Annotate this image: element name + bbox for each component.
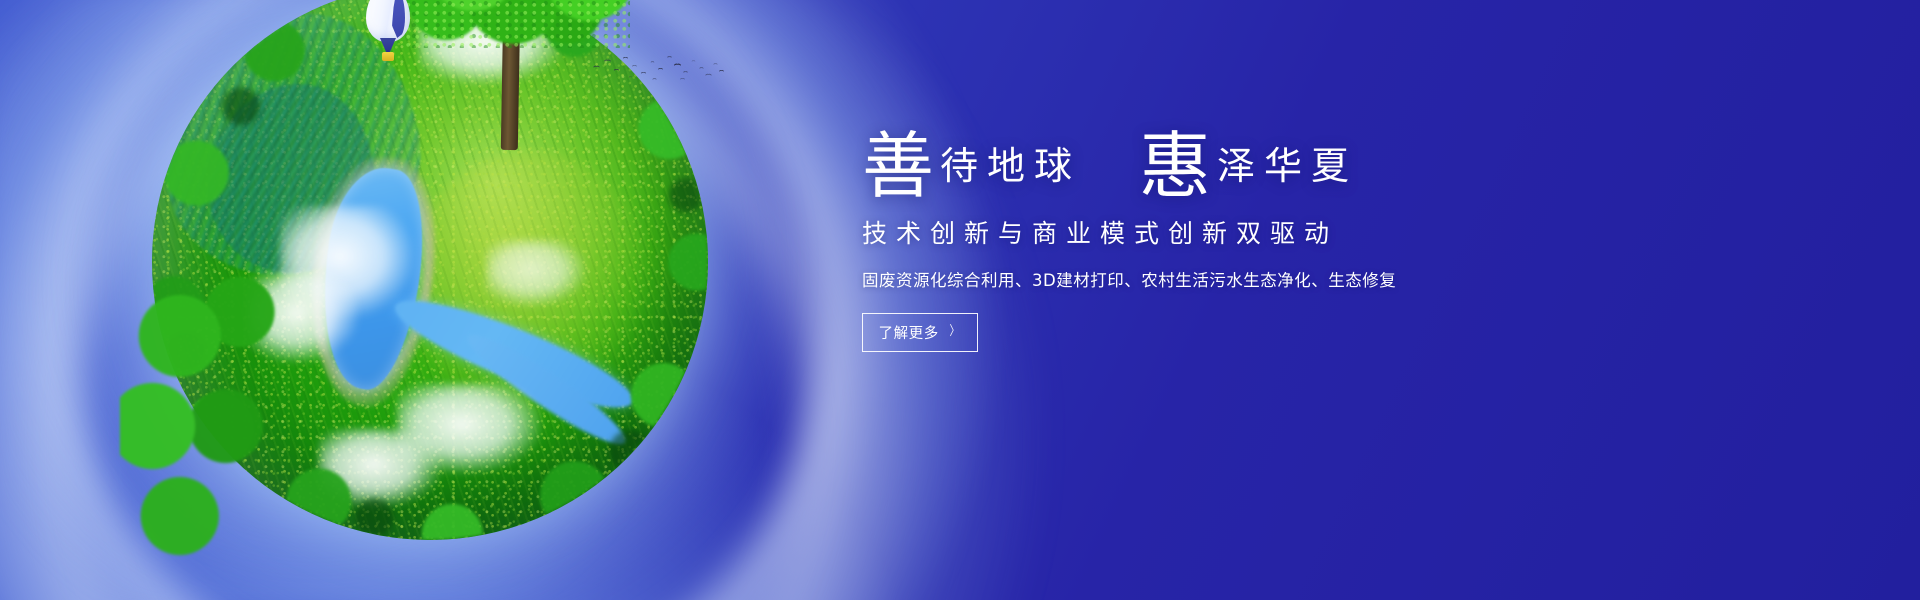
- bird-icon: [680, 78, 685, 81]
- bird-icon: [719, 70, 724, 73]
- bird-icon: [604, 60, 611, 64]
- bird-icon: [706, 74, 712, 78]
- learn-more-label: 了解更多: [878, 322, 938, 343]
- bird-icon: [658, 68, 663, 71]
- tree-leaf-detail: [406, 0, 630, 48]
- bird-icon: [692, 60, 696, 62]
- bird-icon: [593, 66, 599, 70]
- headline-phrase-two: 惠 泽华夏: [1139, 130, 1358, 196]
- hero-banner: 善 待地球 惠 泽华夏 技术创新与商业模式创新双驱动 固废资源化综合利用、3D建…: [0, 0, 1920, 600]
- headline-phrase-one: 善 待地球: [862, 130, 1081, 196]
- learn-more-button[interactable]: 了解更多 〉: [862, 313, 978, 352]
- bird-icon: [674, 63, 681, 67]
- headline-rest-2: 泽华夏: [1217, 139, 1358, 196]
- bird-icon: [632, 65, 637, 68]
- bird-icon: [700, 67, 704, 69]
- bird-icon: [667, 56, 671, 58]
- balloon-basket: [382, 52, 394, 61]
- page-title: 善 待地球 惠 泽华夏: [862, 130, 1762, 196]
- chevron-right-icon: 〉: [949, 325, 960, 338]
- headline-rest-1: 待地球: [940, 139, 1081, 196]
- headline-lead-char-1: 善: [862, 134, 934, 200]
- banner-description: 固废资源化综合利用、3D建材打印、农村生活污水生态净化、生态修复: [862, 267, 1762, 291]
- banner-content: 善 待地球 惠 泽华夏 技术创新与商业模式创新双驱动 固废资源化综合利用、3D建…: [862, 130, 1762, 352]
- bird-flock-icon: [592, 52, 722, 92]
- hot-air-balloon-icon: [366, 0, 410, 70]
- bird-icon: [653, 78, 657, 80]
- foreground-tree-cluster: [120, 258, 350, 558]
- bird-icon: [629, 76, 633, 78]
- headline-lead-char-2: 惠: [1139, 134, 1211, 200]
- bird-icon: [651, 61, 655, 63]
- bird-icon: [614, 69, 619, 72]
- bird-icon: [623, 57, 628, 60]
- bird-icon: [714, 63, 718, 65]
- bird-icon: [641, 72, 646, 75]
- banner-subtitle: 技术创新与商业模式创新双驱动: [862, 214, 1762, 250]
- bird-icon: [683, 71, 687, 74]
